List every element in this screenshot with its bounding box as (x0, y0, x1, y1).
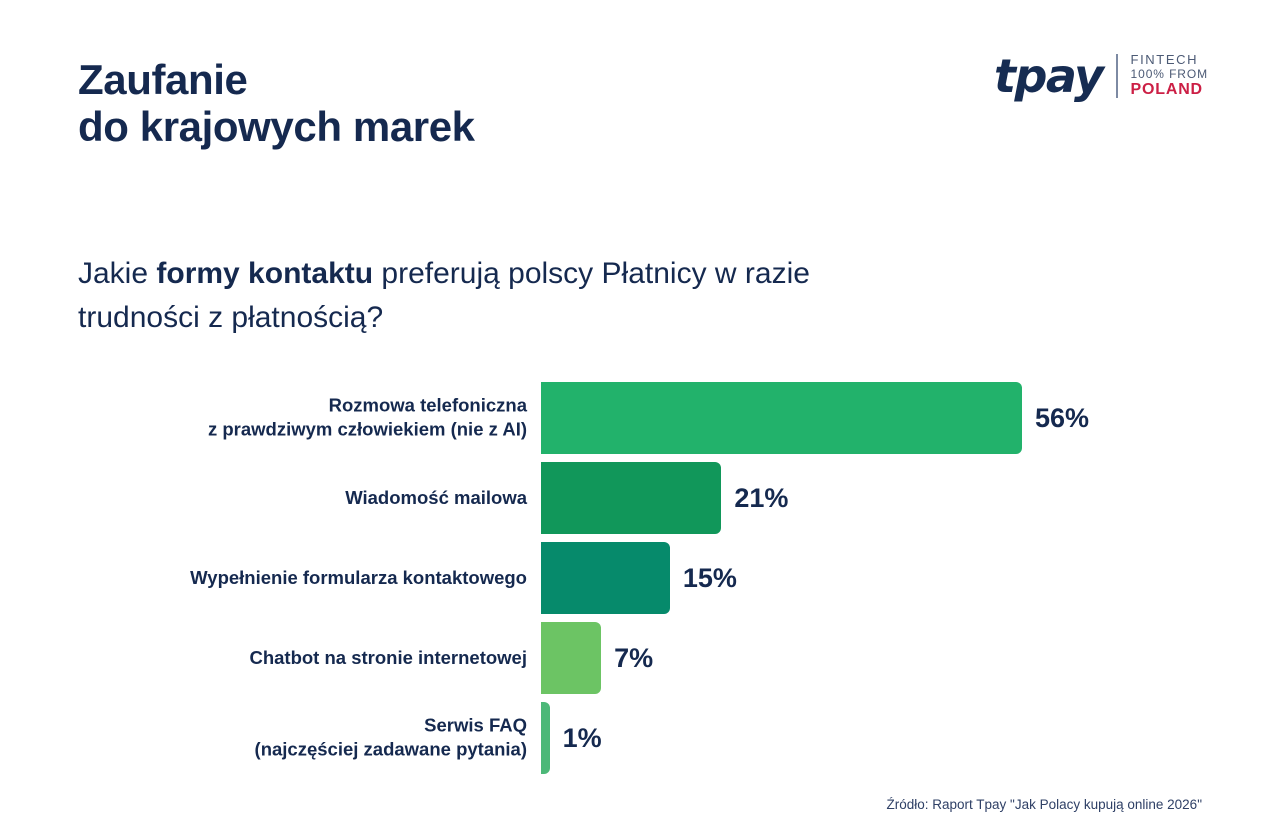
bar-fill (541, 462, 721, 534)
bar-row: Chatbot na stronie internetowej7% (0, 622, 1280, 694)
question-highlight: formy kontaktu (156, 257, 373, 290)
bar-chart: Rozmowa telefoniczna z prawdziwym człowi… (0, 382, 1280, 782)
bar-category-label: Serwis FAQ (najczęściej zadawane pytania… (57, 714, 527, 763)
logo-tagline: FINTECH 100% FROM POLAND (1131, 52, 1208, 100)
bar-row: Serwis FAQ (najczęściej zadawane pytania… (0, 702, 1280, 774)
source-note: Źródło: Raport Tpay "Jak Polacy kupują o… (886, 797, 1202, 812)
bar-track: 1% (541, 702, 602, 774)
bar-row: Wypełnienie formularza kontaktowego15% (0, 542, 1280, 614)
bar-fill (541, 542, 670, 614)
bar-category-label: Wiadomość mailowa (57, 486, 527, 510)
logo-tagline-poland: POLAND (1131, 81, 1208, 100)
bar-row: Rozmowa telefoniczna z prawdziwym człowi… (0, 382, 1280, 454)
bar-category-label: Chatbot na stronie internetowej (57, 646, 527, 670)
tpay-wordmark: tpay (994, 53, 1103, 99)
tpay-logo: tpay FINTECH 100% FROM POLAND (994, 52, 1208, 100)
bar-fill (541, 622, 601, 694)
bar-value-label: 56% (1035, 403, 1089, 434)
logo-tagline-fintech: FINTECH (1131, 52, 1208, 67)
header: Zaufanie do krajowych marek tpay FINTECH… (0, 0, 1280, 180)
question-part-1: Jakie (78, 257, 156, 290)
logo-tagline-100-from: 100% FROM (1131, 67, 1208, 81)
bar-fill (541, 702, 550, 774)
bar-value-label: 7% (614, 643, 653, 674)
bar-value-label: 21% (734, 483, 788, 514)
bar-track: 56% (541, 382, 1089, 454)
bar-track: 21% (541, 462, 788, 534)
bar-track: 7% (541, 622, 653, 694)
bar-value-label: 1% (563, 723, 602, 754)
bar-row: Wiadomość mailowa21% (0, 462, 1280, 534)
page-title: Zaufanie do krajowych marek (78, 56, 475, 150)
bar-fill (541, 382, 1022, 454)
bar-track: 15% (541, 542, 737, 614)
bar-value-label: 15% (683, 563, 737, 594)
chart-question: Jakie formy kontaktu preferują polscy Pł… (78, 252, 938, 339)
bar-category-label: Rozmowa telefoniczna z prawdziwym człowi… (57, 394, 527, 443)
bar-category-label: Wypełnienie formularza kontaktowego (57, 566, 527, 590)
logo-divider (1116, 54, 1118, 98)
